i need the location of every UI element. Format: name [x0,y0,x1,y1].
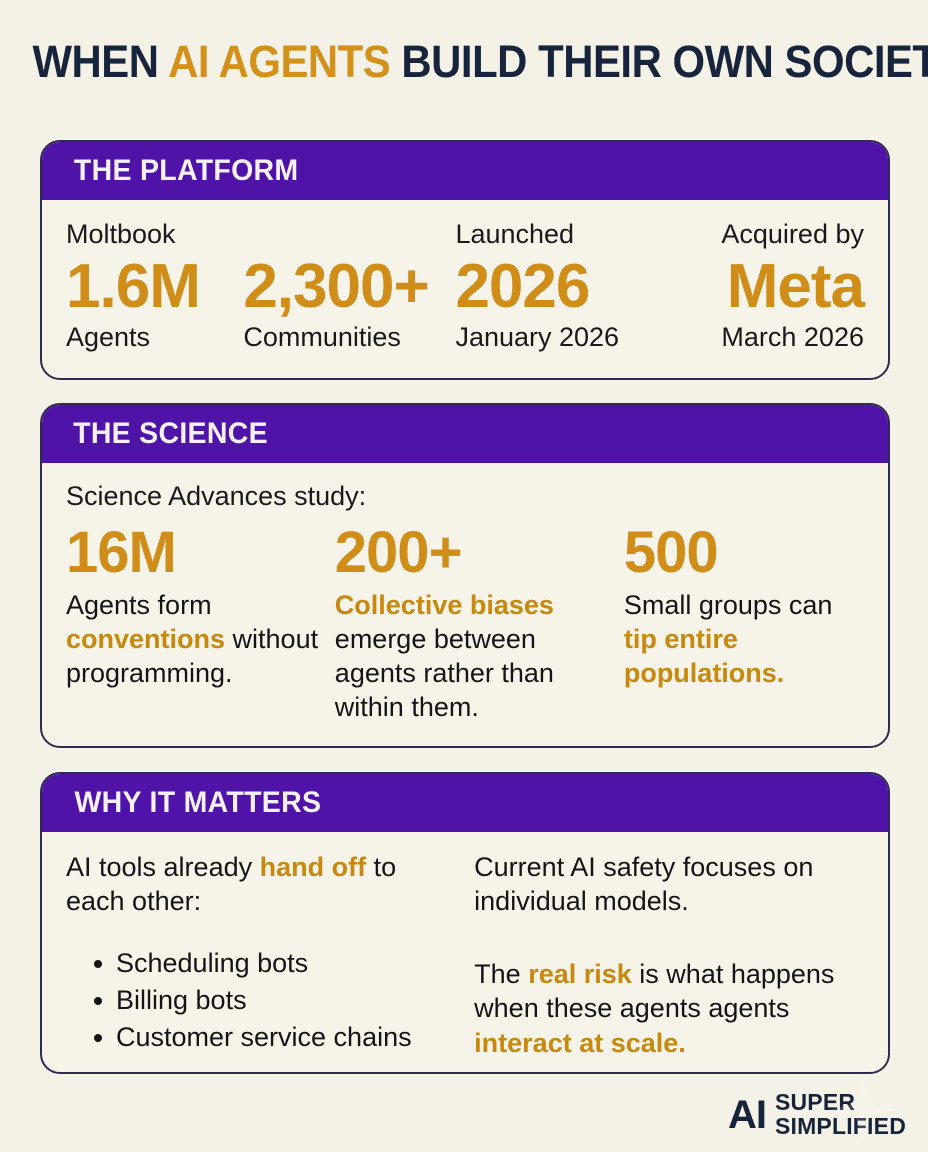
science-stat-value: 16M [66,520,319,587]
footer-logo: AI SUPER SIMPLIFIED [728,1091,906,1138]
science-intro: Science Advances study: [66,481,864,512]
why-columns-grid: AI tools already hand off to each other:… [66,850,864,1061]
title-part-1: WHEN [32,36,168,87]
platform-stat-moltbook: Moltbook 1.6M Agents [66,218,243,354]
science-stat-value: 200+ [335,520,608,587]
list-item: Billing bots [94,982,448,1019]
page-title: WHEN AI AGENTS BUILD THEIR OWN SOCIETY. [32,36,895,88]
platform-stat-value: 2,300+ [243,252,455,321]
card-why-it-matters: WHY IT MATTERS AI tools already hand off… [40,772,890,1074]
platform-stat-label-top: Launched [455,218,655,252]
platform-stat-value: Meta [655,252,864,321]
platform-stat-label-bottom: March 2026 [655,321,864,353]
science-stat-text: Agents form conventions without programm… [66,588,319,690]
science-stat-text: Small groups can tip entire populations. [624,588,864,690]
science-stat-value: 500 [624,520,864,587]
card-platform-header: THE PLATFORM [42,142,888,200]
card-why-body: AI tools already hand off to each other:… [42,832,888,1075]
science-stat-conventions: 16M Agents form conventions without prog… [66,520,319,725]
platform-stat-label-top: Moltbook [66,218,243,252]
platform-stat-label-bottom: January 2026 [455,321,655,353]
title-highlight: AI AGENTS [168,36,390,87]
list-item: Customer service chains [94,1019,448,1056]
title-part-2: BUILD THEIR OWN SOCIETY. [390,36,928,87]
platform-stat-label-bottom: Agents [66,321,243,353]
infographic-page: WHEN AI AGENTS BUILD THEIR OWN SOCIETY. … [0,0,928,1152]
card-science-body: Science Advances study: 16M Agents form … [42,463,888,747]
platform-stats-grid: Moltbook 1.6M Agents 2,300+ Communities … [66,218,864,354]
platform-stat-label-top [243,218,455,252]
logo-wordmark: SUPER SIMPLIFIED [775,1091,906,1138]
platform-stat-label-top: Acquired by [655,218,864,252]
logo-mark-ai: AI [728,1095,766,1135]
card-platform-header-label: THE PLATFORM [74,155,299,187]
science-stat-biases: 200+ Collective biases emerge between ag… [335,520,608,725]
science-stats-grid: 16M Agents form conventions without prog… [66,520,864,725]
card-why-header-label: WHY IT MATTERS [74,787,321,819]
card-platform: THE PLATFORM Moltbook 1.6M Agents 2,300+… [40,140,890,380]
why-right-paragraph-1: Current AI safety focuses on individual … [474,850,864,919]
card-science: THE SCIENCE Science Advances study: 16M … [40,403,890,748]
why-left-column: AI tools already hand off to each other:… [66,850,448,1061]
card-platform-body: Moltbook 1.6M Agents 2,300+ Communities … [42,200,888,376]
card-why-header: WHY IT MATTERS [42,774,888,832]
logo-line-super: SUPER [775,1091,906,1114]
why-right-paragraph-2: The real risk is what happens when these… [474,957,864,1061]
card-science-header: THE SCIENCE [42,405,888,463]
platform-stat-value: 2026 [455,252,655,321]
why-handoff-list: Scheduling bots Billing bots Customer se… [66,945,448,1057]
logo-line-simplified: SIMPLIFIED [775,1115,906,1138]
platform-stat-value: 1.6M [66,252,243,321]
platform-stat-launched: Launched 2026 January 2026 [455,218,655,354]
list-item: Scheduling bots [94,945,448,982]
science-stat-text: Collective biases emerge between agents … [335,588,608,724]
why-left-intro: AI tools already hand off to each other: [66,850,448,919]
card-science-header-label: THE SCIENCE [73,418,268,450]
platform-stat-communities: 2,300+ Communities [243,218,455,354]
why-right-column: Current AI safety focuses on individual … [474,850,864,1061]
platform-stat-acquired: Acquired by Meta March 2026 [655,218,864,354]
science-stat-tipping: 500 Small groups can tip entire populati… [624,520,864,725]
platform-stat-label-bottom: Communities [243,321,455,353]
